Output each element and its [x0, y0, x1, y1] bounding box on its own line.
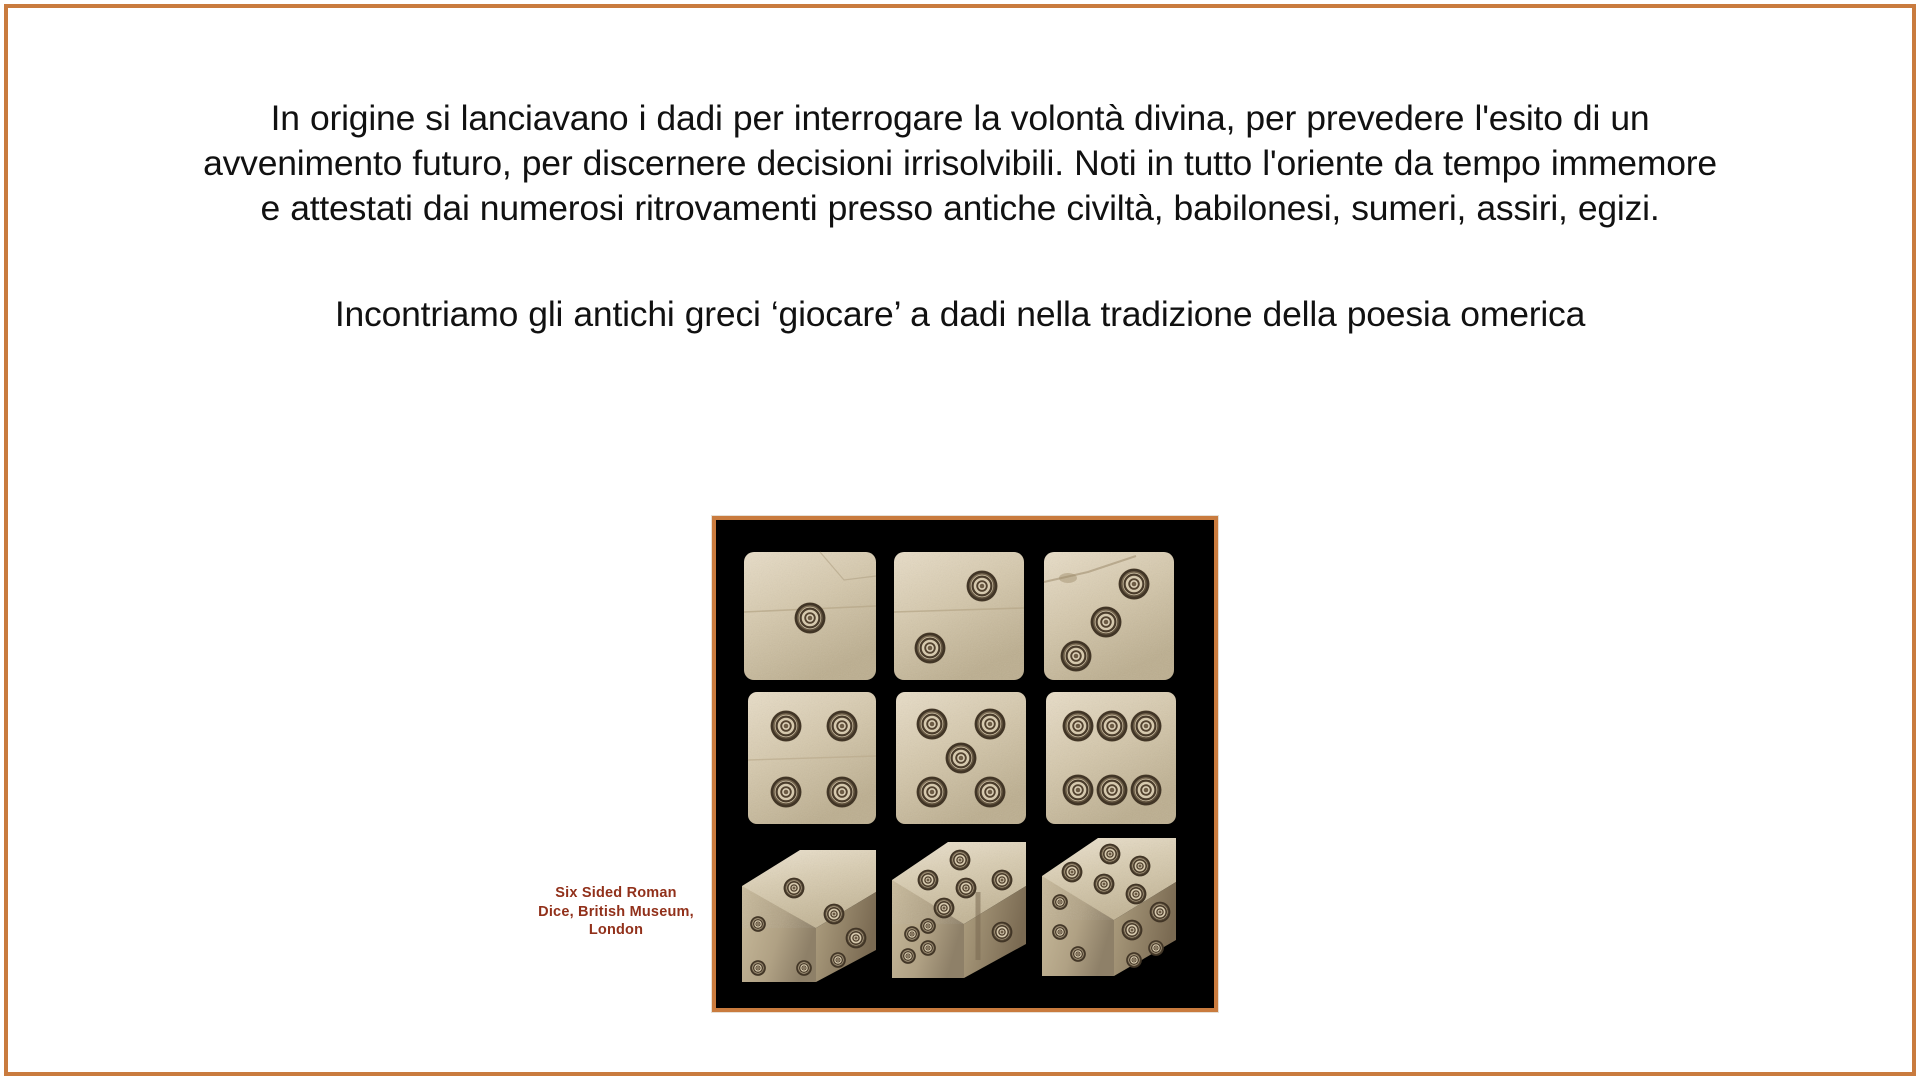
die-face-4: [748, 692, 876, 824]
caption-line-3: London: [505, 921, 727, 940]
die-face-6: [1046, 692, 1176, 824]
roman-dice-photo: [712, 516, 1218, 1012]
paragraph-two: Incontriamo gli antichi greci ‘giocare’ …: [200, 292, 1720, 337]
photo-caption: Six Sided Roman Dice, British Museum, Lo…: [505, 884, 727, 940]
paragraph-one: In origine si lanciavano i dadi per inte…: [200, 96, 1720, 231]
caption-line-1: Six Sided Roman: [505, 884, 727, 903]
die-face-2: [894, 552, 1024, 680]
slide-canvas: In origine si lanciavano i dadi per inte…: [0, 0, 1920, 1080]
die-face-1: [744, 552, 876, 680]
caption-line-2: Dice, British Museum,: [505, 903, 727, 922]
die-face-3: [1044, 552, 1174, 680]
die-face-5: [896, 692, 1026, 824]
dice-illustration: [716, 520, 1214, 1008]
text-content-block: In origine si lanciavano i dadi per inte…: [200, 96, 1720, 337]
